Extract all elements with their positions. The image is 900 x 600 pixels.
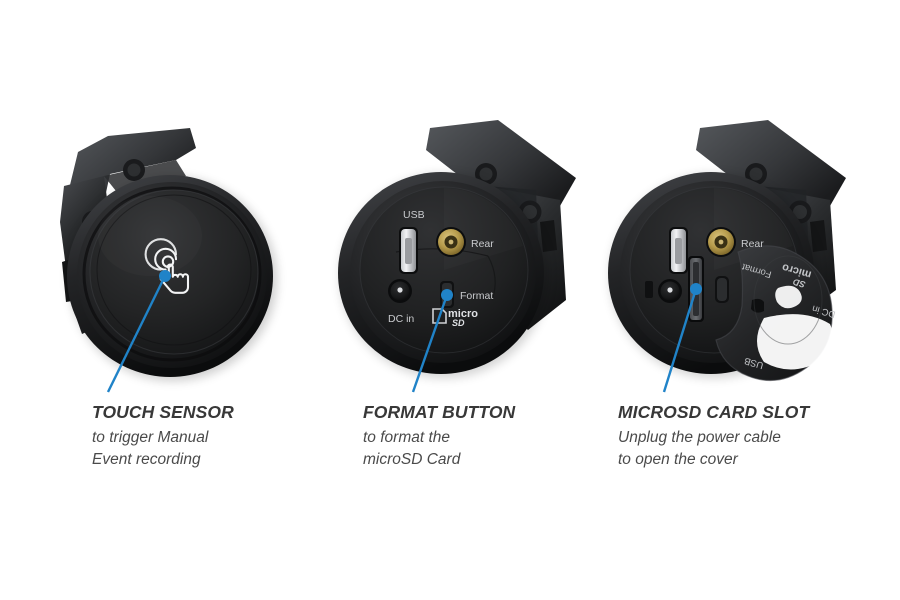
caption-title-touch-sensor: TOUCH SENSOR: [92, 402, 234, 424]
rear-connector-2: [436, 227, 466, 257]
dc-in-jack-2: [388, 279, 412, 303]
microsd-logo-sub-2: SD: [452, 318, 465, 328]
caption-line-2-touch-sensor: Event recording: [92, 449, 234, 471]
figure-stage: USB Rear Format DC in micro SD Rear Form…: [0, 0, 900, 600]
figure-touch-sensor: [60, 128, 277, 392]
port-label-group-3: Rear: [741, 238, 764, 250]
camera-body-1: [67, 175, 277, 381]
dc-in-label-2: DC in: [388, 313, 414, 325]
product-illustrations: USB Rear Format DC in micro SD Rear Form…: [0, 0, 900, 600]
format-label-2: Format: [460, 290, 493, 302]
caption-touch-sensor: TOUCH SENSOR to trigger Manual Event rec…: [92, 402, 234, 472]
rear-connector-3: [706, 227, 736, 257]
caption-line-1-microsd-card-slot: Unplug the power cable: [618, 427, 809, 449]
camera-body-2: [338, 172, 548, 378]
usb-label-2: USB: [403, 209, 425, 221]
caption-title-format-button: FORMAT BUTTON: [363, 402, 515, 424]
caption-format-button: FORMAT BUTTON to format the microSD Card: [363, 402, 515, 472]
caption-microsd-card-slot: MICROSD CARD SLOT Unplug the power cable…: [618, 402, 809, 472]
format-button-slot-3: [715, 276, 729, 303]
caption-line-2-microsd-card-slot: to open the cover: [618, 449, 809, 471]
rear-label-3: Rear: [741, 238, 764, 250]
caption-title-microsd-card-slot: MICROSD CARD SLOT: [618, 402, 809, 424]
figure-microsd-card-slot: [608, 120, 846, 392]
caption-line-1-format-button: to format the: [363, 427, 515, 449]
usb-port-2: [399, 227, 418, 274]
usb-port-3: [669, 227, 688, 274]
caption-line-1-touch-sensor: to trigger Manual: [92, 427, 234, 449]
figure-format-button: [338, 120, 576, 392]
rear-label-2: Rear: [471, 238, 494, 250]
caption-line-2-format-button: microSD Card: [363, 449, 515, 471]
dc-in-jack-3: [658, 279, 682, 303]
